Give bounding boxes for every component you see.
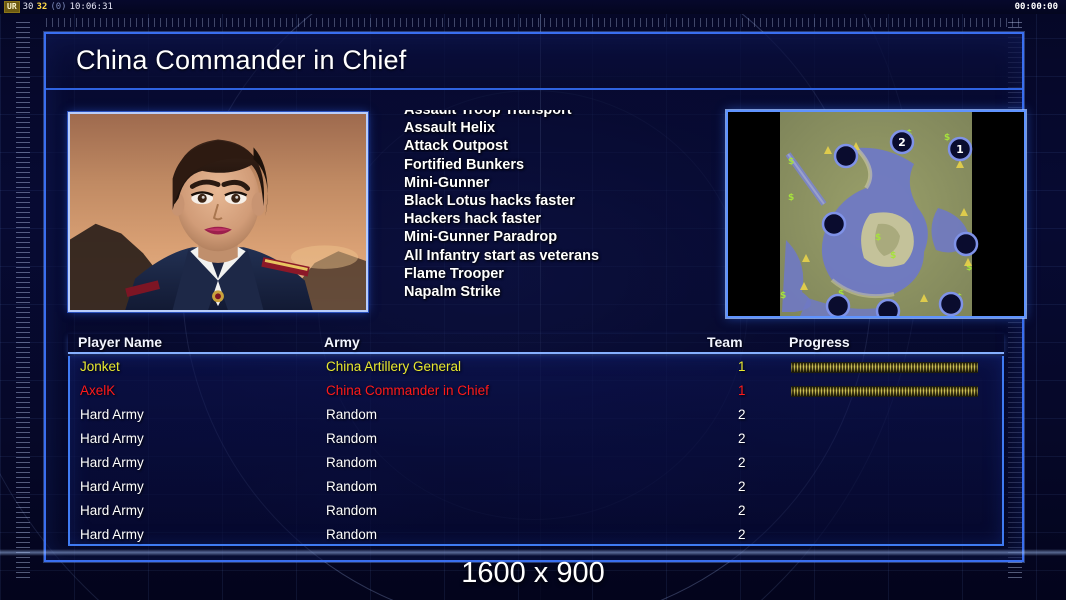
page-title: China Commander in Chief [76,45,406,76]
table-row[interactable]: Hard ArmyRandom2 [70,452,1002,476]
cell-army: Random [326,503,377,518]
ruler-left [16,22,30,578]
ability-item: Mini-Gunner [404,174,672,192]
cell-team: 2 [738,527,746,542]
table-row[interactable]: Hard ArmyRandom2 [70,524,1002,548]
cell-army: Random [326,455,377,470]
ability-item: Napalm Strike [404,283,672,301]
column-header-army: Army [324,334,360,350]
cell-player-name: Hard Army [80,479,144,494]
cell-team: 2 [738,479,746,494]
progress-bar [791,362,978,373]
cell-team: 1 [738,383,746,398]
cell-player-name: Hard Army [80,407,144,422]
ability-item: Flame Trooper [404,265,672,283]
cell-player-name: AxelK [80,383,115,398]
svg-text:$: $ [944,133,950,143]
cell-team: 2 [738,407,746,422]
fps-value: 30 [23,2,34,12]
ability-item: Assault Troop Transport [404,110,672,119]
svg-text:$: $ [890,251,896,261]
general-portrait [68,112,368,312]
match-timer: 00:00:00 [1015,2,1062,12]
abilities-items: Assault Troop Transport Assault Helix At… [404,110,672,301]
map-preview[interactable]: $$ $$ $$ $$ $$ [726,110,1026,318]
lobby-window: China Commander in Chief [44,32,1024,562]
svg-text:$: $ [780,291,786,301]
status-bar-left: UR 30 32 (0) 10:06:31 [4,1,113,13]
fps-tag: UR [4,1,20,13]
cell-army: Random [326,431,377,446]
player-list-header: Player Name Army Team Progress [68,334,1004,354]
general-abilities-list: Assault Troop Transport Assault Helix At… [404,110,672,314]
cell-army: Random [326,479,377,494]
player-list: Player Name Army Team Progress JonketChi… [68,334,1004,546]
column-header-progress: Progress [789,334,850,350]
cell-team: 1 [738,359,746,374]
cell-player-name: Hard Army [80,455,144,470]
svg-text:$: $ [788,193,794,203]
svg-text:$: $ [875,233,881,243]
svg-text:2: 2 [898,136,906,149]
table-row[interactable]: Hard ArmyRandom2 [70,428,1002,452]
table-row[interactable]: Hard ArmyRandom2 [70,404,1002,428]
ability-item: Assault Helix [404,119,672,137]
table-row[interactable]: Hard ArmyRandom2 [70,476,1002,500]
cell-player-name: Hard Army [80,503,144,518]
table-row[interactable]: JonketChina Artillery General1 [70,356,1002,380]
cell-army: Random [326,407,377,422]
ability-item: Black Lotus hacks faster [404,192,672,210]
column-header-team: Team [707,334,743,350]
cell-team: 2 [738,503,746,518]
bottom-glow-divider [0,549,1066,556]
cell-army: Random [326,527,377,542]
cell-army: China Artillery General [326,359,461,374]
svg-text:1: 1 [956,143,964,156]
cell-team: 2 [738,431,746,446]
progress-bar [791,386,978,397]
column-header-player-name: Player Name [78,334,162,350]
player-list-body: JonketChina Artillery General1AxelKChina… [68,356,1004,546]
cell-army: China Commander in Chief [326,383,489,398]
table-row[interactable]: Hard ArmyRandom2 [70,500,1002,524]
table-row[interactable]: AxelKChina Commander in Chief1 [70,380,1002,404]
svg-text:$: $ [788,157,794,167]
ability-item: Hackers hack faster [404,210,672,228]
ability-item: Attack Outpost [404,137,672,155]
ruler-top [46,18,1021,27]
cell-player-name: Jonket [80,359,120,374]
map-preview-image: $$ $$ $$ $$ $$ [728,112,1024,316]
ability-item: Fortified Bunkers [404,156,672,174]
system-clock: 10:06:31 [70,2,113,12]
resolution-overlay: 1600 x 900 [0,557,1066,590]
status-bar: UR 30 32 (0) 10:06:31 00:00:00 [0,0,1066,14]
general-info-row: Assault Troop Transport Assault Helix At… [68,112,1004,324]
portrait-illustration [70,114,366,310]
title-band: China Commander in Chief [46,34,1022,90]
cell-player-name: Hard Army [80,431,144,446]
cell-team: 2 [738,455,746,470]
game-lobby-screen: UR 30 32 (0) 10:06:31 00:00:00 China Com… [0,0,1066,600]
frame-sub-value: (0) [50,2,66,12]
ability-item: All Infantry start as veterans [404,247,672,265]
frame-value: 32 [36,2,47,12]
ability-item: Mini-Gunner Paradrop [404,228,672,246]
cell-player-name: Hard Army [80,527,144,542]
